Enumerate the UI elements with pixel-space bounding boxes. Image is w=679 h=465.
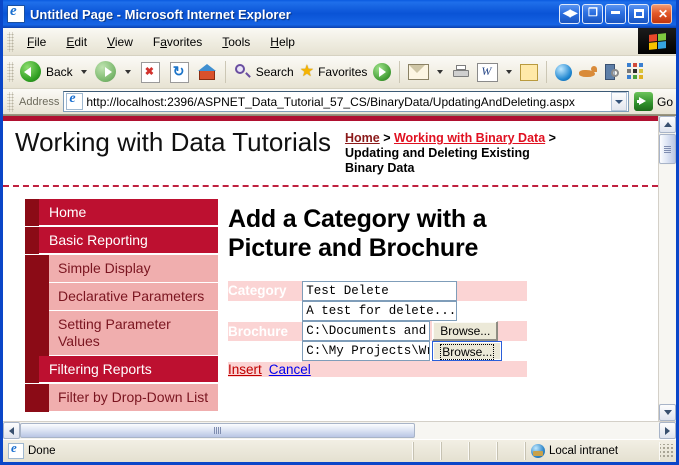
- search-icon: [234, 63, 252, 81]
- security-zone-text: Local intranet: [549, 445, 618, 457]
- description-input[interactable]: A test for delete...: [302, 301, 457, 321]
- word-edit-icon: [477, 63, 498, 82]
- window-title: Untitled Page - Microsoft Internet Explo…: [30, 7, 559, 22]
- page-header: Working with Data Tutorials Home > Worki…: [3, 121, 658, 187]
- globe-icon: [531, 444, 545, 458]
- forward-button[interactable]: [92, 59, 120, 85]
- blue-orb-icon: [555, 64, 572, 81]
- picture-file-input[interactable]: C:\My Projects\Writing: [302, 341, 430, 361]
- web-page: Working with Data Tutorials Home > Worki…: [3, 116, 658, 421]
- back-arrow-icon: [20, 61, 42, 83]
- sidebar-item-label: Home: [39, 199, 218, 226]
- address-label: Address: [19, 96, 59, 108]
- forward-dropdown-icon[interactable]: [125, 70, 131, 74]
- media-button[interactable]: [370, 59, 394, 85]
- menu-help[interactable]: Help: [261, 32, 304, 52]
- status-segment-3: [469, 442, 497, 460]
- resize-grip[interactable]: [660, 444, 674, 458]
- address-bar: Address http://localhost:2396/ASPNET_Dat…: [3, 89, 676, 115]
- status-message: Done: [3, 442, 413, 460]
- category-input[interactable]: Test Delete: [302, 281, 457, 301]
- sidebar-nav: Home Basic Reporting Simple Display: [3, 187, 218, 412]
- main-content: Add a Category with a Picture and Brochu…: [218, 187, 658, 377]
- page-viewport: Working with Data Tutorials Home > Worki…: [3, 115, 676, 439]
- window-controls: ◀▶ ❒ ✕: [559, 4, 674, 24]
- refresh-icon: [170, 62, 189, 83]
- toolbar: Back Search ★ Favorites: [3, 56, 676, 89]
- status-text: Done: [28, 445, 56, 457]
- sidebar-item-basic-reporting[interactable]: Basic Reporting: [25, 227, 218, 254]
- notes-button[interactable]: [517, 59, 541, 85]
- scroll-down-button[interactable]: [659, 404, 676, 421]
- table-row: Picture C:\My Projects\WritingBrowse...: [228, 341, 527, 361]
- sidebar-item-declarative-parameters[interactable]: Declarative Parameters: [25, 283, 218, 311]
- browser-window: Untitled Page - Microsoft Internet Explo…: [0, 0, 679, 465]
- windows-flag-logo: [638, 28, 676, 54]
- toolbar-separator-2: [399, 61, 400, 83]
- scroll-right-button[interactable]: [659, 422, 676, 439]
- refresh-button[interactable]: [165, 59, 194, 85]
- sidebar-item-filter-by-drop-down-list[interactable]: Filter by Drop-Down List: [25, 384, 218, 412]
- toolbar-separator: [225, 61, 226, 83]
- breadcrumb-link-home[interactable]: Home: [345, 131, 380, 145]
- address-input[interactable]: http://localhost:2396/ASPNET_Data_Tutori…: [63, 91, 629, 112]
- picture-browse-button[interactable]: Browse...: [432, 341, 502, 361]
- status-segment-2: [441, 442, 469, 460]
- sidebar-item-label: Filtering Reports: [39, 356, 218, 383]
- go-arrow-icon: [634, 92, 653, 111]
- breadcrumb: Home > Working with Binary Data > Updati…: [345, 131, 570, 176]
- security-zone[interactable]: Local intranet: [525, 442, 660, 460]
- sidebar-item-home[interactable]: Home: [25, 199, 218, 226]
- sidebar-accent: [25, 255, 49, 283]
- breadcrumb-current: Updating and Deleting Existing Binary Da…: [345, 146, 530, 175]
- sidebar-accent: [25, 283, 49, 311]
- addon-button[interactable]: [624, 59, 648, 85]
- vertical-scroll-thumb[interactable]: [659, 134, 676, 164]
- title-bar: Untitled Page - Microsoft Internet Explo…: [3, 0, 676, 28]
- breadcrumb-separator-1: >: [380, 131, 394, 145]
- menu-drag-handle[interactable]: [7, 32, 14, 52]
- address-drag-handle[interactable]: [7, 92, 14, 112]
- menu-bar: File Edit View Favorites Tools Help: [3, 28, 676, 56]
- go-button[interactable]: Go: [634, 92, 673, 111]
- page-icon: [66, 93, 83, 110]
- mail-button[interactable]: [405, 59, 432, 85]
- sidebar-accent: [25, 356, 39, 383]
- fox-icon: [578, 65, 598, 80]
- ie-document-icon: [7, 5, 25, 23]
- form-label-description: Description: [228, 301, 302, 321]
- horizontal-scroll-thumb[interactable]: [20, 423, 415, 438]
- sidebar-item-filtering-reports[interactable]: Filtering Reports: [25, 356, 218, 383]
- toolbar-separator-3: [546, 61, 547, 83]
- breadcrumb-separator-2: >: [545, 131, 556, 145]
- stop-button[interactable]: [136, 59, 165, 85]
- form-value-category: Test Delete: [302, 281, 457, 301]
- sidebar-item-label: Simple Display: [49, 255, 218, 283]
- sidebar-item-label: Filter by Drop-Down List: [49, 384, 218, 412]
- minimize-button[interactable]: [605, 4, 626, 24]
- favorites-button[interactable]: ★ Favorites: [297, 59, 371, 85]
- status-bar: Done Local intranet: [3, 439, 676, 462]
- toolbar-drag-handle[interactable]: [7, 62, 14, 82]
- thumb-grip-icon: [214, 427, 221, 434]
- back-button[interactable]: Back: [17, 59, 76, 85]
- horizontal-scroll-track[interactable]: [415, 422, 659, 439]
- form-label-brochure: Brochure: [228, 321, 302, 341]
- sidebar-item-label: Basic Reporting: [39, 227, 218, 254]
- brochure-browse-button[interactable]: Browse...: [432, 321, 498, 341]
- cancel-link[interactable]: Cancel: [269, 362, 311, 377]
- page-area: Working with Data Tutorials Home > Worki…: [3, 116, 676, 421]
- star-icon: ★: [300, 64, 314, 80]
- printer-icon: [451, 64, 471, 80]
- status-segment-1: [413, 442, 441, 460]
- form-commands: InsertCancel: [228, 361, 527, 377]
- table-row: Description A test for delete...: [228, 301, 527, 321]
- sidebar-item-label: Declarative Parameters: [49, 283, 218, 311]
- page-title: Working with Data Tutorials: [15, 127, 331, 158]
- mail-icon: [408, 64, 429, 80]
- scroll-up-button[interactable]: [659, 116, 676, 133]
- stop-icon: [141, 62, 160, 83]
- horizontal-scrollbar[interactable]: [3, 421, 676, 439]
- form-label-category: Category: [228, 281, 302, 301]
- table-row: Brochure C:\Documents and SetBrowse...: [228, 321, 527, 341]
- menu-tools[interactable]: Tools: [213, 32, 259, 52]
- content-heading: Add a Category with a Picture and Brochu…: [228, 205, 528, 263]
- table-row-commands: InsertCancel: [228, 361, 527, 377]
- note-icon: [520, 64, 538, 81]
- breadcrumb-link-section[interactable]: Working with Binary Data: [394, 131, 545, 145]
- menu-edit[interactable]: Edit: [57, 32, 96, 52]
- scroll-left-button[interactable]: [3, 422, 20, 439]
- thumb-grip-icon: [664, 146, 671, 153]
- vertical-scrollbar[interactable]: [658, 116, 676, 421]
- menu-file[interactable]: File: [18, 32, 55, 52]
- form-value-picture: C:\My Projects\WritingBrowse...: [302, 341, 527, 361]
- colorful-grid-icon: [627, 63, 645, 81]
- menu-favorites[interactable]: Favorites: [144, 32, 211, 52]
- research-icon: [604, 63, 621, 81]
- form-label-picture: Picture: [228, 341, 302, 361]
- sidebar-accent: [25, 384, 49, 412]
- form-pad-cell: [457, 301, 527, 321]
- search-button[interactable]: Search: [231, 59, 297, 85]
- form-value-description: A test for delete...: [302, 301, 457, 321]
- home-icon: [197, 63, 217, 81]
- home-button[interactable]: [194, 59, 220, 85]
- research-button[interactable]: [601, 59, 624, 85]
- picture-browse-label: Browse...: [440, 344, 494, 360]
- messenger-orb-button[interactable]: [552, 59, 575, 85]
- brochure-file-input[interactable]: C:\Documents and Set: [302, 321, 430, 341]
- status-segment-4: [497, 442, 525, 460]
- close-button[interactable]: ✕: [651, 4, 672, 24]
- sidebar-accent: [25, 311, 49, 356]
- address-dropdown-button[interactable]: [611, 92, 627, 111]
- insert-form-table: Category Test Delete Description A test …: [228, 281, 527, 377]
- sidebar-item-simple-display[interactable]: Simple Display: [25, 255, 218, 283]
- page-status-icon: [8, 443, 24, 459]
- restore-window-left-right-button[interactable]: ◀▶: [559, 4, 580, 24]
- restore-down-button[interactable]: ❒: [582, 4, 603, 24]
- sidebar-accent: [25, 227, 39, 254]
- table-row: Category Test Delete: [228, 281, 527, 301]
- edit-button[interactable]: [474, 59, 501, 85]
- forward-arrow-icon: [95, 61, 117, 83]
- page-body: Home Basic Reporting Simple Display: [3, 187, 658, 412]
- menu-view[interactable]: View: [98, 32, 142, 52]
- form-pad-cell: [457, 281, 527, 301]
- insert-link[interactable]: Insert: [228, 362, 262, 377]
- vertical-scroll-track[interactable]: [659, 165, 676, 404]
- back-dropdown-icon[interactable]: [81, 70, 87, 74]
- maximize-button[interactable]: [628, 4, 649, 24]
- form-value-brochure: C:\Documents and SetBrowse...: [302, 321, 527, 341]
- print-button[interactable]: [448, 59, 474, 85]
- mail-dropdown-icon[interactable]: [437, 70, 443, 74]
- sidebar-item-setting-parameter-values[interactable]: Setting Parameter Values: [25, 311, 218, 356]
- sidebar-item-label: Setting Parameter Values: [49, 311, 218, 356]
- address-url-text: http://localhost:2396/ASPNET_Data_Tutori…: [86, 95, 611, 109]
- edit-dropdown-icon[interactable]: [506, 70, 512, 74]
- fox-button[interactable]: [575, 59, 601, 85]
- brochure-browse-label: Browse...: [440, 324, 490, 338]
- media-icon: [373, 63, 391, 81]
- sidebar-accent: [25, 199, 39, 226]
